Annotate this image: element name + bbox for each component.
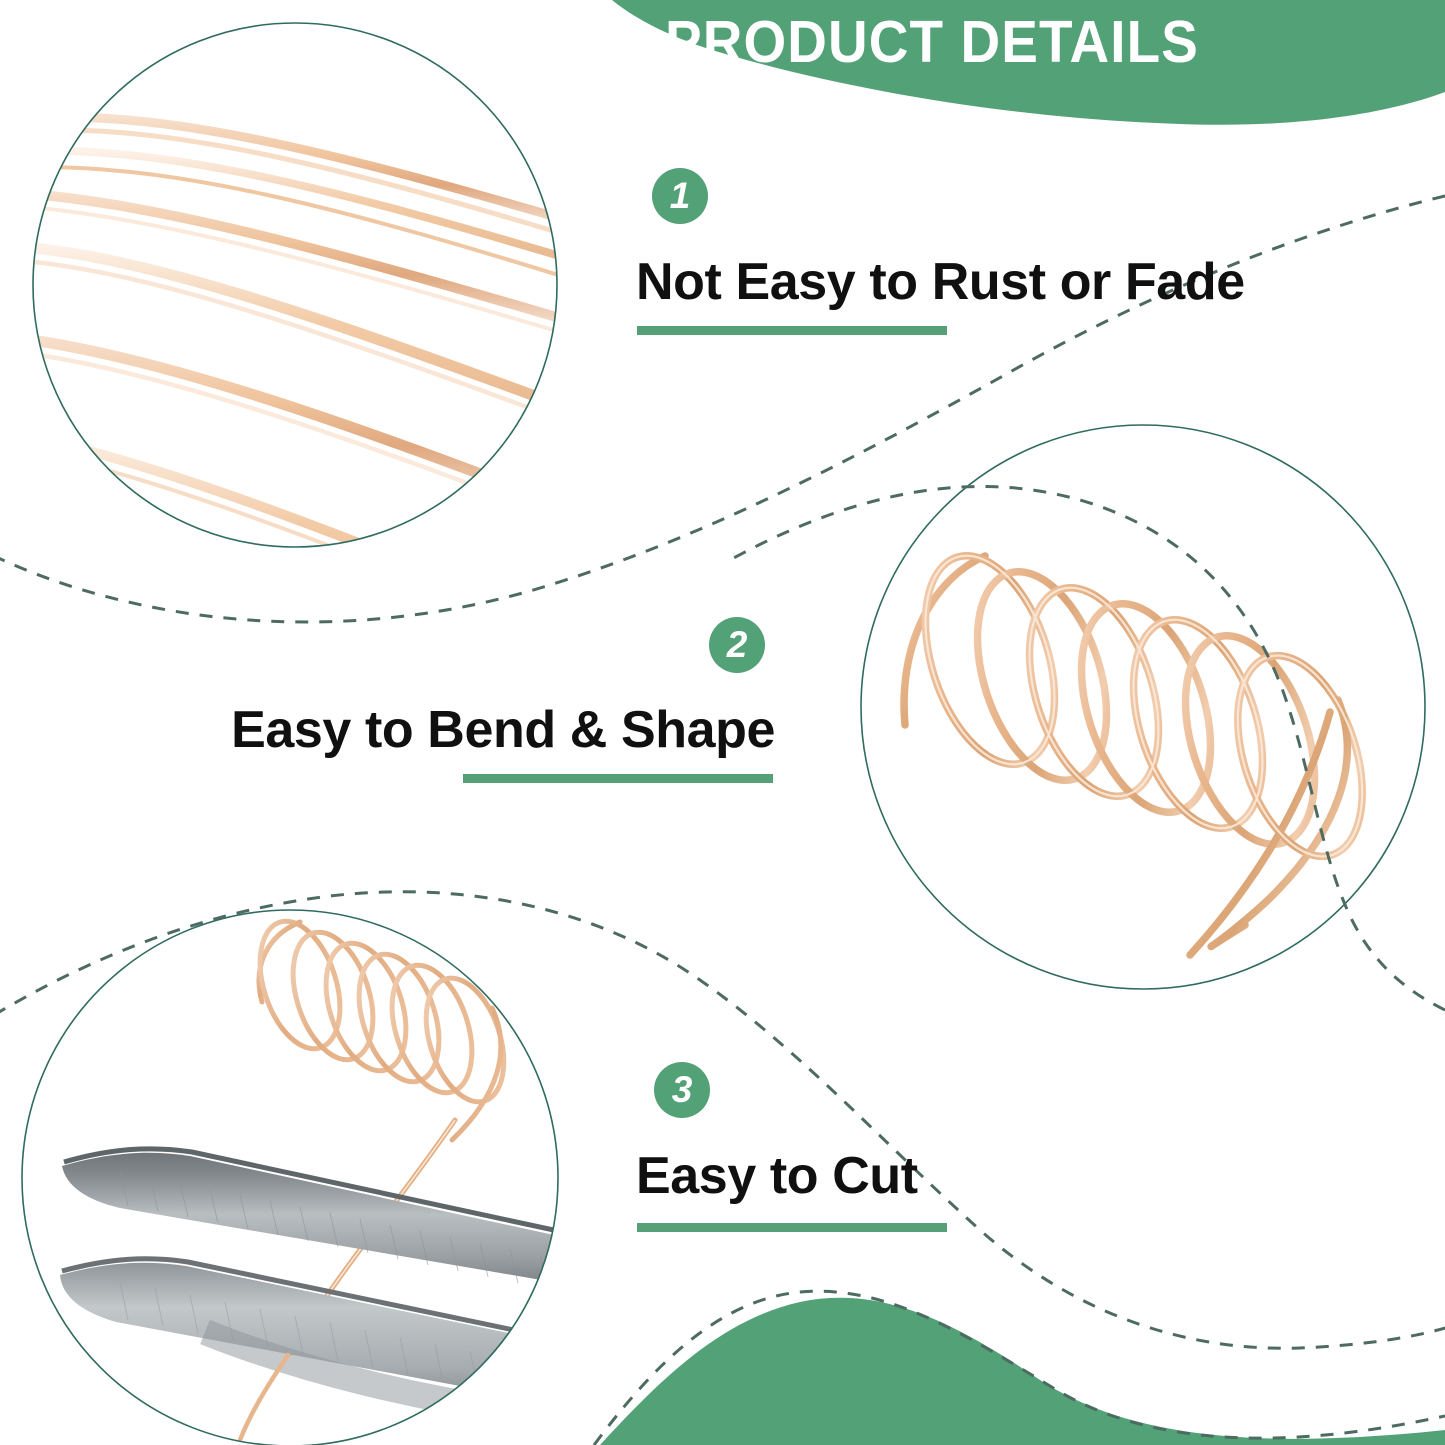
feature-item-2: 2 Easy to Bend & Shape: [180, 612, 780, 812]
feature-3-title: Easy to Cut: [636, 1150, 918, 1202]
feature-item-1: 1 Not Easy to Rust or Fade: [630, 160, 1330, 360]
feature-2-underline: [463, 774, 773, 783]
feature-1-number-badge: 1: [652, 168, 708, 224]
page-title: PRODUCT DETAILS: [634, 4, 1229, 80]
dashed-curve-right-loop: [730, 487, 1445, 1010]
feature-3-number-badge: 3: [654, 1062, 710, 1118]
feature-2-title: Easy to Bend & Shape: [231, 704, 775, 756]
feature-item-3: 3 Easy to Cut: [630, 1055, 1330, 1255]
feature-2-number-badge: 2: [709, 617, 765, 673]
feature-3-underline: [637, 1223, 947, 1232]
feature-1-title: Not Easy to Rust or Fade: [636, 256, 1245, 308]
feature-1-underline: [637, 326, 947, 335]
product-details-infographic: PRODUCT DETAILS 1 Not Easy to Rust or Fa…: [0, 0, 1445, 1445]
